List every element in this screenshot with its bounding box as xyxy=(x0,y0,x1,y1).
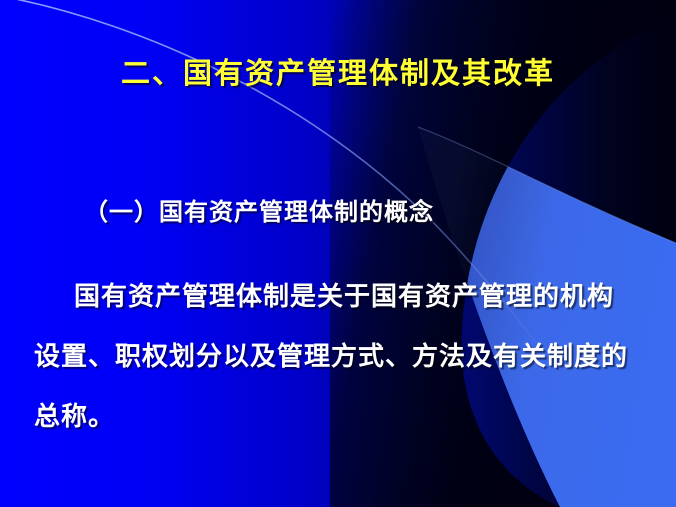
body-text-line-1: 国有资产管理体制是关于国有资产管理的机构 xyxy=(74,276,614,313)
body-text-line-2: 设置、职权划分以及管理方式、方法及有关制度的 xyxy=(34,336,628,373)
slide-subheading: （一）国有资产管理体制的概念 xyxy=(84,192,434,227)
slide-title: 二、国有资产管理体制及其改革 xyxy=(0,50,676,92)
presentation-slide: 二、国有资产管理体制及其改革 （一）国有资产管理体制的概念 国有资产管理体制是关… xyxy=(0,0,676,507)
body-text-line-3: 总称。 xyxy=(34,396,115,433)
slide-content: 二、国有资产管理体制及其改革 （一）国有资产管理体制的概念 国有资产管理体制是关… xyxy=(0,0,676,507)
